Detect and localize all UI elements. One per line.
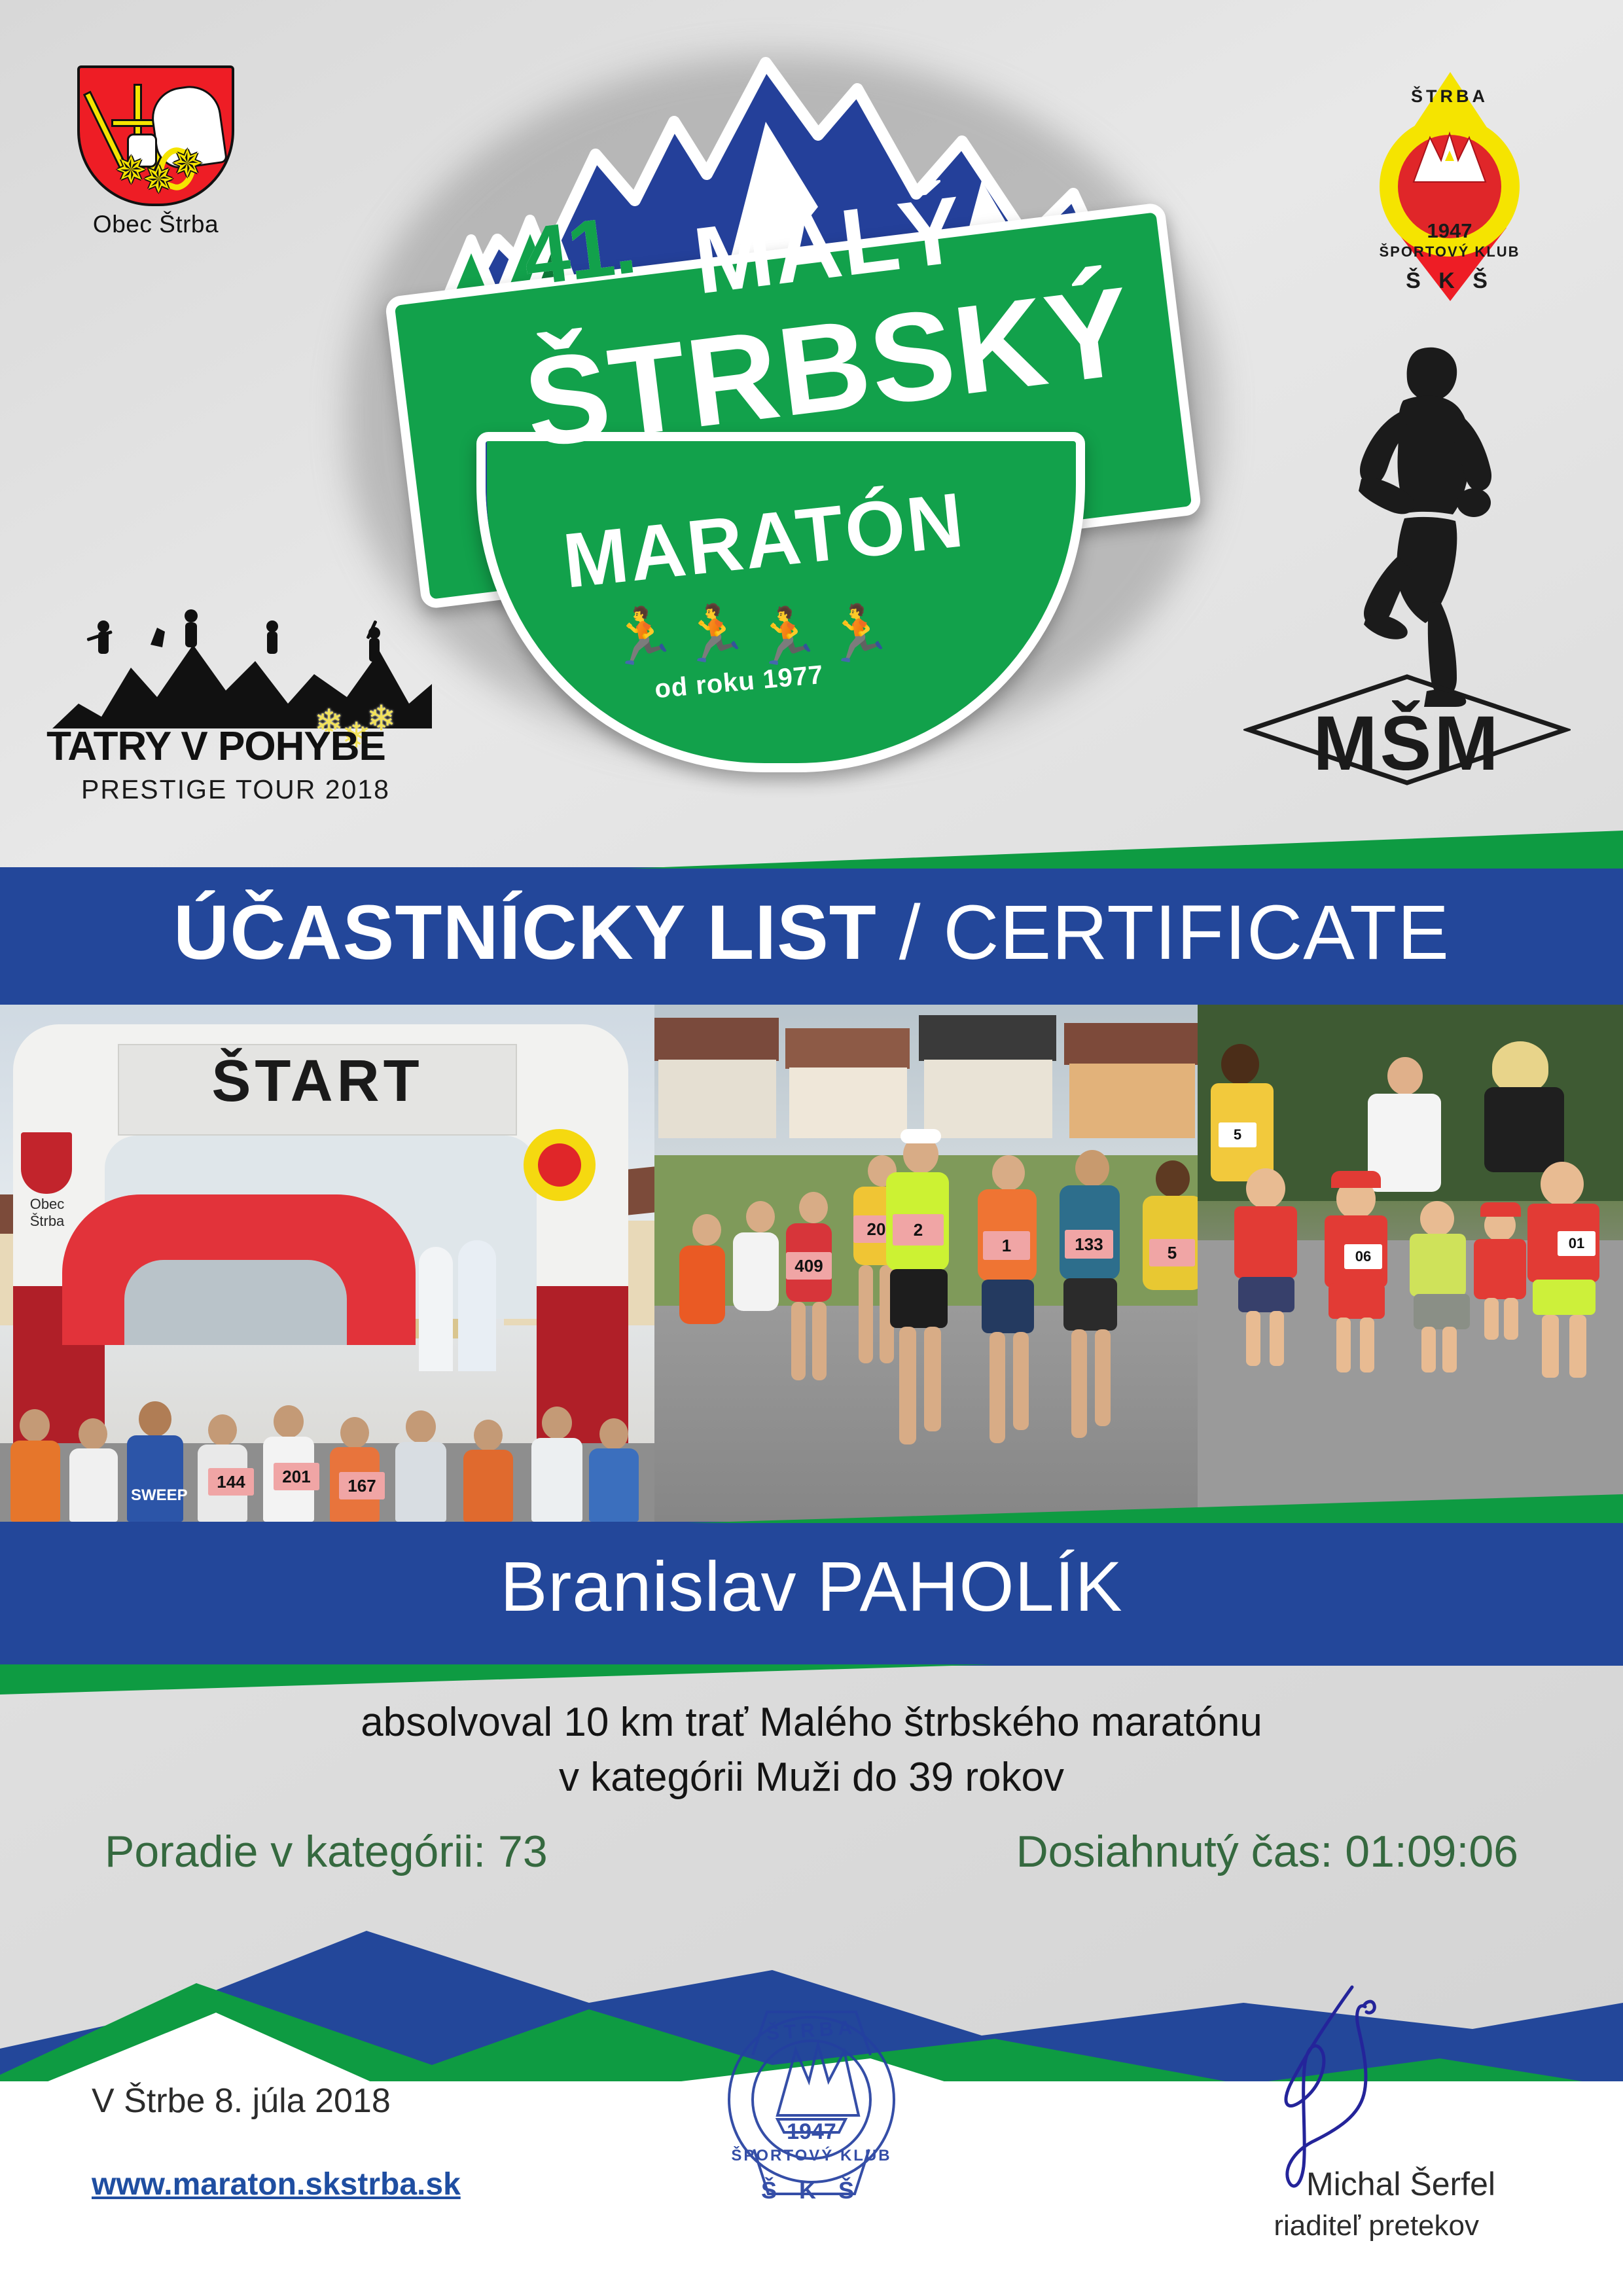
result-row: Poradie v kategórii: 73 Dosiahnutý čas: … [0,1826,1623,1905]
bib-number: 167 [339,1472,385,1499]
sks-middle-label: ŠPORTOVÝ KLUB [1368,243,1531,260]
event-badge-logo: 41. MALÝ ŠTRBSKÝ MARATÓN 🏃 🏃 🏃 🏃 od roku… [327,26,1257,759]
photo-start-arch: ŠTART Obec Štrba sportrysy SWEEP [0,1005,654,1522]
bib-number: 144 [208,1468,254,1496]
finish-time: Dosiahnutý čas: 01:09:06 [1016,1826,1518,1877]
bib-number: 133 [1065,1230,1113,1259]
place-and-date: V Štrbe 8. júla 2018 [92,2081,391,2121]
shirt-text: SWEEP [131,1486,179,1505]
cap-icon [1331,1171,1381,1188]
website-link[interactable]: www.maraton.skstrba.sk [92,2166,461,2202]
spectator [1472,1041,1571,1172]
title-secondary: CERTIFICATE [943,889,1450,976]
tatry-subtitle: PRESTIGE TOUR 2018 [39,774,432,805]
msm-text: MŠM [1237,699,1577,788]
sks-top-label: ŠTRBA [1368,86,1531,107]
finish-time-value: 01:09:06 [1345,1827,1518,1876]
photo-elite-runners: 409 20 2 [654,1005,1198,1522]
title-main: ÚČASTNÍCKY LIST [173,889,877,976]
bib-number: 201 [274,1463,319,1490]
badge-edition: 41. [518,196,640,304]
obec-strba-crest: ✵ ✵ ✵ Obec Štrba [77,65,234,236]
running-man-icon [1335,340,1505,707]
footer-section: V Štrbe 8. júla 2018 www.maraton.skstrba… [0,2081,1623,2296]
bib-number: 409 [786,1252,832,1280]
achievement-line-2: v kategórii Muži do 39 rokov [0,1750,1623,1805]
sks-peaks-icon [1407,131,1492,183]
bib-number: 5 [1219,1122,1257,1147]
sponsor-flag [458,1240,496,1371]
participant-name: Branislav PAHOLÍK [0,1545,1623,1627]
bib-number: 5 [1149,1239,1195,1266]
runner-crowd: SWEEP 144 201 167 [0,1358,654,1522]
bib-number: 2 [893,1214,944,1246]
certificate-page: ✵ ✵ ✵ Obec Štrba [0,0,1623,2296]
cap-icon [1480,1202,1521,1217]
photo-kids-race: 5 06 [1198,1005,1623,1522]
msm-logo: MŠM [1237,340,1577,798]
obec-strba-label: Obec Štrba [77,211,234,238]
achievement-text: absolvoval 10 km trať Malého štrbského m… [0,1695,1623,1804]
arch-crest-icon [21,1132,72,1194]
sks-club-logo: ŠTRBA 1947 ŠPORTOVÝ KLUB Š K Š [1368,72,1531,301]
stamp-bottom-label: Š K Š [713,2177,910,2204]
tatry-title: TATRY V POHYBE [39,723,393,770]
page-title: ÚČASTNÍCKY LIST / CERTIFICATE [0,888,1623,977]
bib-number: 1 [983,1231,1030,1260]
category-rank-value: 73 [498,1827,548,1876]
category-rank: Poradie v kategórii: 73 [105,1826,548,1877]
sks-year-label: 1947 [1368,219,1531,243]
coat-of-arms-icon: ✵ ✵ ✵ [77,65,234,206]
bib-number: 01 [1558,1231,1596,1256]
signer-name: Michal Šerfel [1306,2165,1495,2203]
arch-crest-label: Obec Štrba [13,1196,81,1230]
finish-time-label: Dosiahnutý čas: [1016,1827,1333,1876]
signer-role: riaditeľ pretekov [1274,2210,1479,2242]
header-section: ✵ ✵ ✵ Obec Štrba [0,0,1623,867]
tatry-v-pohybe-logo: ❄ ❄ ❄ TATRY V POHYBE PRESTIGE TOUR 2018 [39,605,445,802]
stamp-year-label: 1947 [713,2119,910,2145]
start-arch-caption: ŠTART [118,1048,517,1115]
title-separator: / [899,889,921,976]
sponsor-flag [419,1247,453,1371]
runner-silhouettes-icon: 🏃 🏃 🏃 🏃 [609,609,949,668]
achievement-line-1: absolvoval 10 km trať Malého štrbského m… [0,1695,1623,1750]
club-stamp: ŠTRBA 1947 ŠPORTOVÝ KLUB Š K Š [713,1990,910,2206]
sks-bottom-label: Š K Š [1368,268,1531,294]
stamp-middle-label: ŠPORTOVÝ KLUB [713,2147,910,2165]
bib-number: 06 [1344,1244,1382,1269]
certificate-title-band: ÚČASTNÍCKY LIST / CERTIFICATE [0,867,1623,1005]
category-rank-label: Poradie v kategórii: [105,1827,486,1876]
participant-name-band: Branislav PAHOLÍK [0,1522,1623,1666]
photo-strip: ŠTART Obec Štrba sportrysy SWEEP [0,1005,1623,1522]
